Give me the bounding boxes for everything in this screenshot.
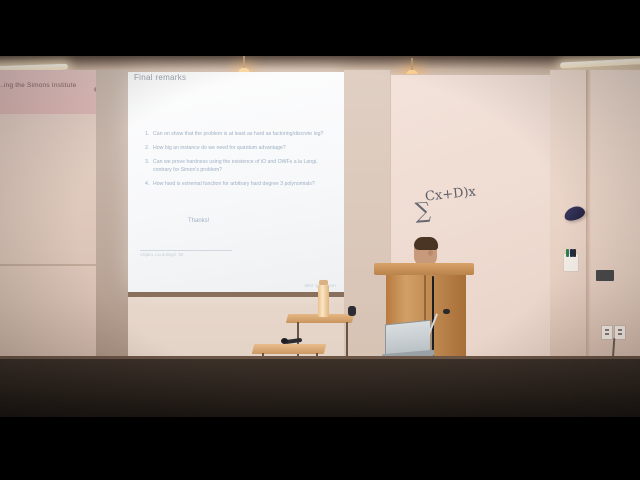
wall-edge-shadow (586, 70, 591, 376)
wall-mounted-box-icon (596, 270, 614, 281)
slide-item-text: How big an instance do we need for quant… (153, 145, 286, 151)
center-wall-strip (344, 70, 390, 376)
marker-black-icon (573, 249, 576, 257)
slide-item: 2. How big an instance do we need for qu… (145, 144, 333, 152)
slide-item-number: 2. (145, 144, 149, 152)
slide-reference-text: Vinjaru, Liu & Boyd, '20 (140, 252, 183, 257)
slide-item: 3. Can we prove hardness using the exist… (145, 158, 333, 174)
letterbox-top (0, 0, 640, 56)
whiteboard-handwriting-top: Cx+D)x (424, 184, 476, 204)
gooseneck-microphone-head (443, 309, 450, 314)
water-bottle-icon (318, 284, 329, 317)
power-outlet-left-icon (601, 325, 613, 340)
handheld-microphone-head (281, 338, 288, 344)
slide-title: Final remarks (134, 73, 186, 82)
wall-column-gray (96, 70, 128, 376)
slide-item-text: Can on show that the problem is at least… (153, 131, 323, 137)
slide-item-number: 3. (145, 158, 149, 166)
speaker-hair (414, 237, 438, 250)
left-wall-panel (0, 114, 98, 376)
projection-screen-bottom-bar (128, 292, 344, 297)
podium-top (374, 263, 474, 275)
slide-item-text: Can we prove hardness using the existenc… (153, 159, 318, 173)
slide-thanks-text: Thanks! (188, 218, 209, 224)
outlet-slot (618, 329, 622, 331)
outlet-slot (605, 333, 609, 335)
wall-banner: ...ing the Simons Institute (0, 70, 109, 116)
slide-item-number: 4. (145, 180, 149, 188)
slide-body: 1. Can on show that the problem is at le… (145, 130, 333, 194)
letterbox-bottom (0, 417, 640, 480)
marker-holder-icon (563, 253, 579, 272)
slide-item: 1. Can on show that the problem is at le… (145, 130, 333, 138)
right-wall-column (550, 70, 640, 376)
slide-item-text: How hard is extremal function for arbitr… (153, 181, 315, 187)
power-outlet-right-icon (614, 325, 626, 340)
slide-item-number: 1. (145, 130, 149, 138)
speaker-ear (428, 250, 433, 256)
slide-footnote-rule (140, 250, 232, 251)
slide-item: 4. How hard is extremal function for arb… (145, 180, 333, 188)
small-dark-object-icon (348, 306, 356, 316)
floor (0, 359, 640, 417)
whiteboard-handwriting-sum: ∑ (414, 198, 431, 224)
projection-screen: Final remarks 1. Can on show that the pr… (128, 72, 344, 292)
water-bottle-cap (319, 280, 328, 285)
wall-banner-text: ...ing the Simons Institute (0, 82, 106, 89)
marker-green-icon (566, 249, 569, 257)
video-frame: ...ing the Simons Institute Final remark… (0, 0, 640, 480)
outlet-slot (618, 333, 622, 335)
outlet-slot (605, 329, 609, 331)
panel-seam (0, 264, 96, 266)
lecture-room: ...ing the Simons Institute Final remark… (0, 56, 640, 417)
